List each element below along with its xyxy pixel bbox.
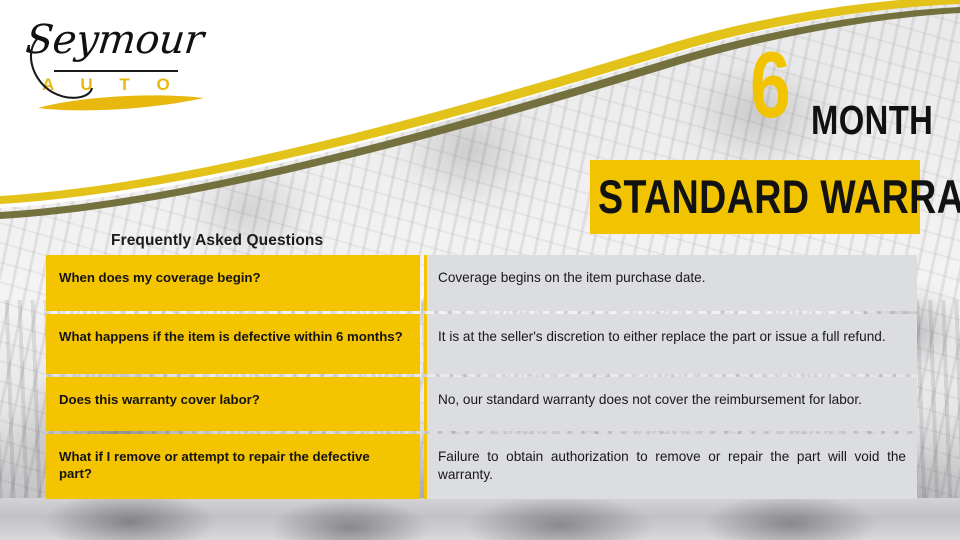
faq-answer-cell: Failure to obtain authorization to remov… <box>424 434 917 499</box>
warranty-duration-unit: MONTH <box>811 100 933 141</box>
faq-question-cell: Does this warranty cover labor? <box>46 377 420 431</box>
faq-table: When does my coverage begin? Coverage be… <box>46 255 917 502</box>
standard-warranty-banner-text: STANDARD WARRANTY <box>598 173 960 220</box>
logo-yellow-swoosh-icon <box>32 86 222 116</box>
warranty-duration-number: 6 <box>750 40 789 129</box>
faq-question-cell: What if I remove or attempt to repair th… <box>46 434 420 499</box>
faq-answer-cell: No, our standard warranty does not cover… <box>424 377 917 431</box>
table-row: What if I remove or attempt to repair th… <box>46 434 917 499</box>
faq-answer-cell: Coverage begins on the item purchase dat… <box>424 255 917 311</box>
warranty-slide: Seymour A U T O 6 MONTH STANDARD WARRANT… <box>0 0 960 540</box>
standard-warranty-banner: STANDARD WARRANTY <box>590 160 920 234</box>
faq-heading: Frequently Asked Questions <box>111 232 323 250</box>
faq-answer-cell: It is at the seller's discretion to eith… <box>424 314 917 374</box>
engine-photo-bottom-band <box>0 498 960 540</box>
warranty-headline-badge: 6 MONTH STANDARD WARRANTY <box>580 40 940 240</box>
faq-question-cell: What happens if the item is defective wi… <box>46 314 420 374</box>
table-row: Does this warranty cover labor? No, our … <box>46 377 917 431</box>
logo-script-wordmark: Seymour <box>24 20 205 60</box>
table-row: When does my coverage begin? Coverage be… <box>46 255 917 311</box>
seymour-auto-logo[interactable]: Seymour A U T O <box>18 18 208 110</box>
table-row: What happens if the item is defective wi… <box>46 314 917 374</box>
logo-underline-rule <box>54 70 178 72</box>
faq-question-cell: When does my coverage begin? <box>46 255 420 311</box>
